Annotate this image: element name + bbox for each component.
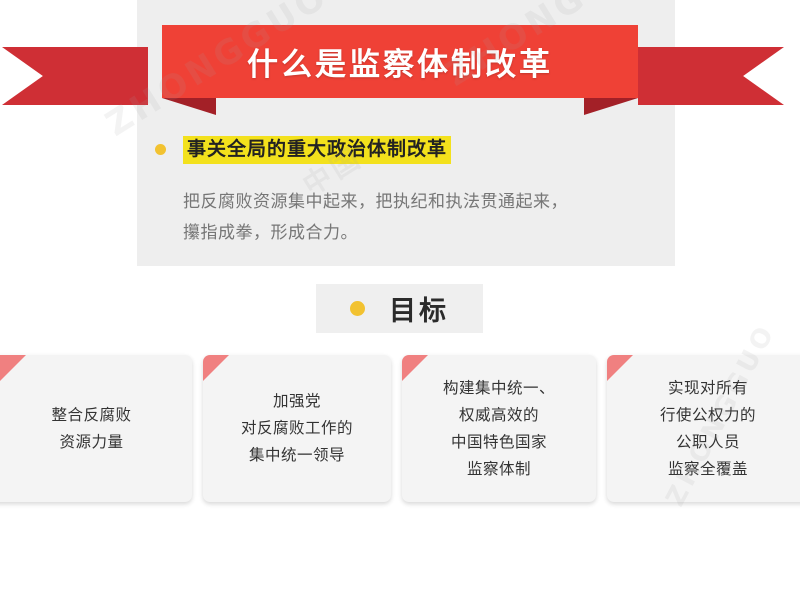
goal-card-line: 集中统一领导 (241, 442, 353, 469)
goal-card[interactable]: 加强党对反腐败工作的集中统一领导 (203, 355, 391, 502)
body-line: 把反腐败资源集中起来，把执纪和执法贯通起来， (183, 187, 663, 218)
corner-triangle-icon (0, 355, 26, 381)
ribbon-tail-right (638, 47, 784, 105)
goal-card[interactable]: 构建集中统一、权威高效的中国特色国家监察体制 (402, 355, 596, 502)
goal-card-line: 监察体制 (443, 456, 555, 483)
ribbon-banner: 什么是监察体制改革 (148, 25, 652, 105)
goal-card-line: 实现对所有 (660, 375, 756, 402)
goal-card-line: 对反腐败工作的 (241, 415, 353, 442)
banner-title: 什么是监察体制改革 (162, 25, 638, 98)
goal-section-label: 目标 (389, 289, 449, 328)
headline-text: 事关全局的重大政治体制改革 (183, 136, 451, 164)
corner-triangle-icon (203, 355, 229, 381)
goal-card-line: 资源力量 (51, 429, 131, 456)
goal-card[interactable]: 整合反腐败资源力量 (0, 355, 192, 502)
body-line: 攥指成拳，形成合力。 (183, 218, 663, 249)
goal-card-line: 加强党 (241, 388, 353, 415)
bullet-dot-icon (155, 144, 166, 155)
goal-card-line: 中国特色国家 (443, 429, 555, 456)
goal-card-line: 权威高效的 (443, 402, 555, 429)
goal-card-line: 公职人员 (660, 429, 756, 456)
goal-card-text: 实现对所有行使公权力的公职人员监察全覆盖 (652, 375, 764, 483)
goal-card-text: 加强党对反腐败工作的集中统一领导 (233, 388, 361, 469)
ribbon-tail-left (2, 47, 148, 105)
ribbon-body: 什么是监察体制改革 (162, 25, 638, 98)
goal-dot-icon (350, 301, 365, 316)
headline-row: 事关全局的重大政治体制改革 (155, 136, 451, 164)
goal-card-text: 构建集中统一、权威高效的中国特色国家监察体制 (435, 375, 563, 483)
goal-cards-row: 整合反腐败资源力量 加强党对反腐败工作的集中统一领导 构建集中统一、权威高效的中… (0, 355, 800, 503)
goal-section-header: 目标 (316, 284, 483, 333)
body-paragraph: 把反腐败资源集中起来，把执纪和执法贯通起来， 攥指成拳，形成合力。 (183, 187, 663, 249)
corner-triangle-icon (607, 355, 633, 381)
goal-card-text: 整合反腐败资源力量 (43, 402, 139, 456)
goal-card-line: 行使公权力的 (660, 402, 756, 429)
goal-card[interactable]: 实现对所有行使公权力的公职人员监察全覆盖 (607, 355, 800, 502)
goal-card-line: 构建集中统一、 (443, 375, 555, 402)
goal-card-line: 监察全覆盖 (660, 456, 756, 483)
goal-card-line: 整合反腐败 (51, 402, 131, 429)
corner-triangle-icon (402, 355, 428, 381)
